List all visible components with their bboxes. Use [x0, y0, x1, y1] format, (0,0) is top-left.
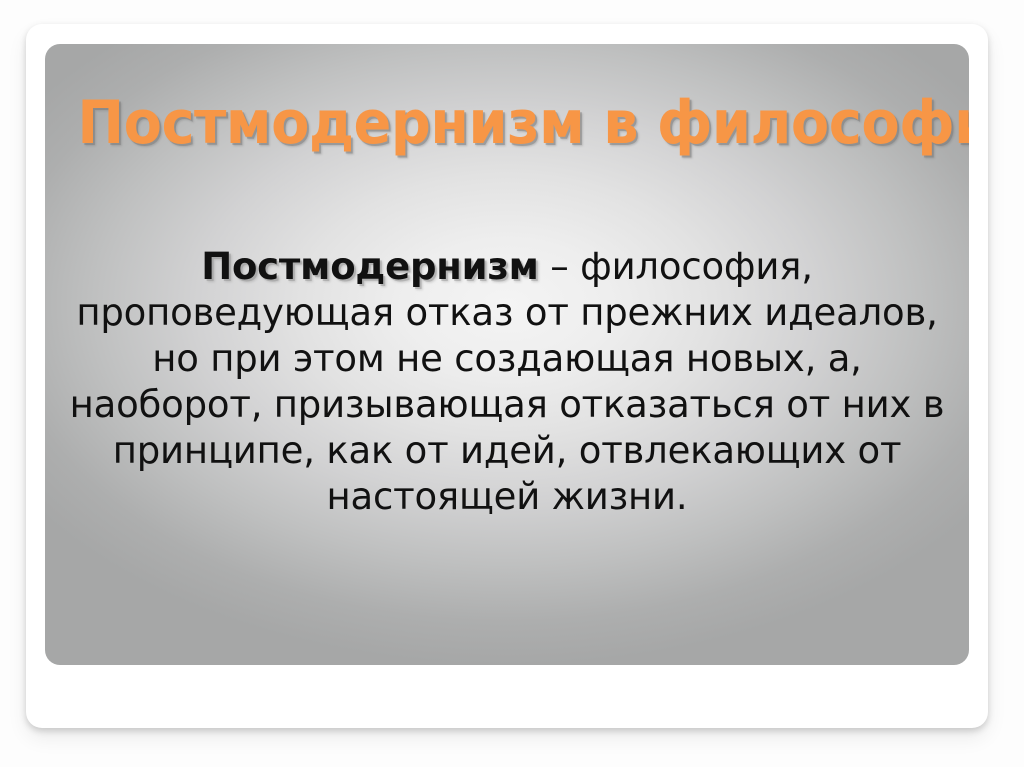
slide-title: Постмодернизм в философии	[77, 90, 936, 156]
slide-body-text: Постмодернизм – философия, проповедующая…	[55, 244, 959, 520]
term-separator: –	[539, 245, 580, 288]
slide-frame: Постмодернизм в философии Постмодернизм …	[26, 24, 988, 728]
slide-canvas: Постмодернизм в философии Постмодернизм …	[45, 44, 969, 665]
slide-viewer: Постмодернизм в философии Постмодернизм …	[0, 0, 1024, 767]
defined-term: Постмодернизм	[201, 245, 539, 288]
